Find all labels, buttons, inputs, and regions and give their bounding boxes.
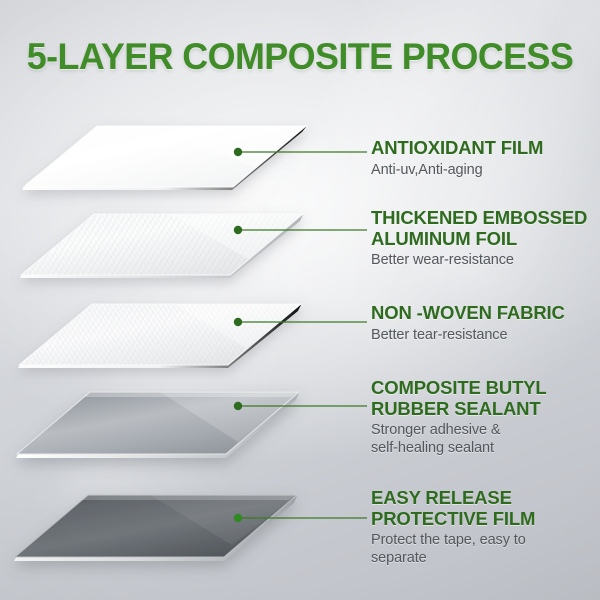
layer-shape-butyl-sealant bbox=[16, 392, 299, 458]
callout-subtitle-line2: separate bbox=[371, 550, 595, 568]
connector-dot-4 bbox=[234, 402, 242, 410]
callout-title: COMPOSITE BUTYL bbox=[371, 378, 595, 399]
callout-aluminum-foil: THICKENED EMBOSSED ALUMINUM FOIL Better … bbox=[371, 208, 595, 270]
layer-shape-aluminum-foil bbox=[20, 214, 303, 278]
connector-dot-1 bbox=[234, 148, 242, 156]
connector-dot-5 bbox=[234, 514, 242, 522]
callout-subtitle: Better wear-resistance bbox=[371, 252, 595, 270]
callout-title: ANTIOXIDANT FILM bbox=[371, 138, 595, 159]
callout-subtitle: Protect the tape, easy to bbox=[371, 532, 595, 550]
callout-subtitle: Anti-uv,Anti-aging bbox=[371, 162, 595, 180]
callout-subtitle: Stronger adhesive & bbox=[371, 422, 595, 440]
callout-subtitle: Better tear-resistance bbox=[371, 327, 595, 345]
layer-shape-non-woven-fabric bbox=[18, 304, 301, 368]
callout-title: THICKENED EMBOSSED bbox=[371, 208, 595, 229]
callout-release-film: EASY RELEASE PROTECTIVE FILM Protect the… bbox=[371, 488, 595, 567]
callout-non-woven-fabric: NON -WOVEN FABRIC Better tear-resistance bbox=[371, 303, 595, 344]
callout-subtitle-line2: self-healing sealant bbox=[371, 440, 595, 458]
callout-title-line2: PROTECTIVE FILM bbox=[371, 509, 595, 530]
layer-shape-antioxidant-film bbox=[22, 126, 306, 190]
callout-title-line2: ALUMINUM FOIL bbox=[371, 229, 595, 250]
callout-butyl-sealant: COMPOSITE BUTYL RUBBER SEALANT Stronger … bbox=[371, 378, 595, 457]
callout-antioxidant-film: ANTIOXIDANT FILM Anti-uv,Anti-aging bbox=[371, 138, 595, 179]
connector-dot-3 bbox=[234, 318, 242, 326]
composite-process-infographic: 5-LAYER COMPOSITE PROCESS ANTIOXIDANT FI… bbox=[0, 0, 600, 600]
page-title: 5-LAYER COMPOSITE PROCESS bbox=[9, 36, 591, 78]
callout-title-line2: RUBBER SEALANT bbox=[371, 399, 595, 420]
callout-title: EASY RELEASE bbox=[371, 488, 595, 509]
layer-shape-release-film bbox=[14, 495, 297, 561]
connector-dot-2 bbox=[234, 226, 242, 234]
callout-title: NON -WOVEN FABRIC bbox=[371, 303, 595, 324]
